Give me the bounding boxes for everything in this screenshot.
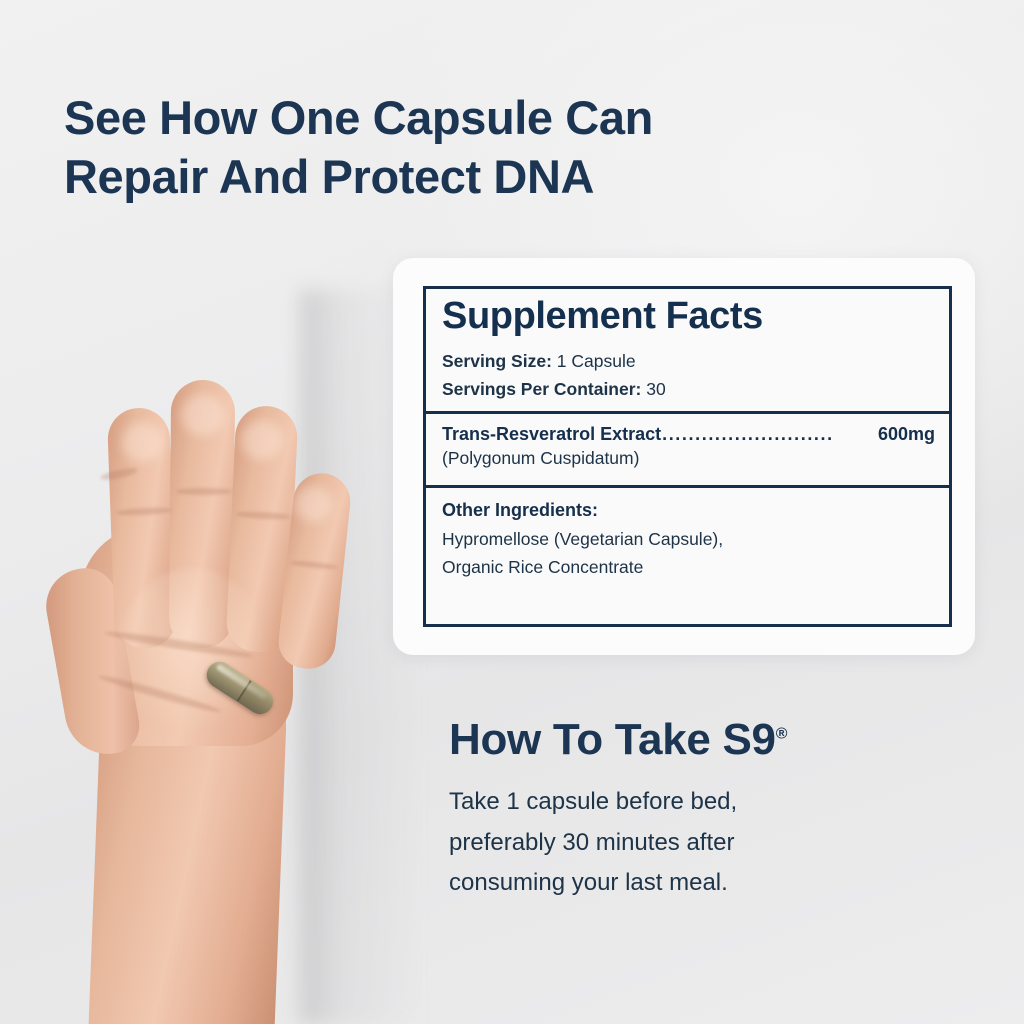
middle-tip-highlight [181, 394, 225, 436]
other-ingredient-item: Organic Rice Concentrate [442, 553, 935, 581]
active-ingredient-row: Trans-Resveratrol Extract ..............… [442, 424, 935, 445]
index-tip-highlight [122, 422, 164, 462]
servings-per-container-label: Servings Per Container: [442, 379, 641, 399]
other-ingredients-label: Other Ingredients: [442, 500, 935, 521]
how-to-take-line: consuming your last meal. [449, 863, 909, 903]
how-to-take-line: Take 1 capsule before bed, [449, 782, 909, 822]
serving-size-label: Serving Size: [442, 351, 552, 371]
how-to-take-title-text: How To Take S9 [449, 715, 776, 764]
product-marketing-image: See How One Capsule Can Repair And Prote… [0, 0, 1024, 1024]
other-ingredient-item: Hypromellose (Vegetarian Capsule), [442, 525, 935, 553]
dot-leader: .......................... [662, 424, 877, 445]
supplement-facts-title: Supplement Facts [442, 297, 935, 337]
active-ingredient-name: Trans-Resveratrol Extract [442, 424, 661, 445]
middle-crease [176, 488, 232, 495]
headline-line-1: See How One Capsule Can [64, 89, 764, 147]
how-to-take-line: preferably 30 minutes after [449, 823, 909, 863]
servings-per-container-row: Servings Per Container: 30 [442, 375, 935, 403]
registered-trademark-icon: ® [776, 725, 787, 742]
supplement-facts-card: Supplement Facts Serving Size: 1 Capsule… [393, 258, 975, 655]
supplement-facts-panel: Supplement Facts Serving Size: 1 Capsule… [423, 286, 952, 630]
facts-header-section: Supplement Facts Serving Size: 1 Capsule… [423, 286, 952, 414]
how-to-take-title: How To Take S9® [449, 716, 909, 764]
how-to-take-block: How To Take S9® Take 1 capsule before be… [449, 716, 909, 903]
serving-size-row: Serving Size: 1 Capsule [442, 347, 935, 375]
active-ingredient-amount: 600mg [878, 424, 935, 445]
pinky-tip-highlight [294, 486, 332, 522]
ring-tip-highlight [241, 420, 283, 460]
hand-photo [0, 170, 400, 1024]
other-ingredients-section: Other Ingredients: Hypromellose (Vegetar… [423, 485, 952, 627]
active-ingredient-source: (Polygonum Cuspidatum) [442, 448, 935, 469]
how-to-take-body: Take 1 capsule before bed, preferably 30… [449, 782, 909, 903]
active-ingredient-section: Trans-Resveratrol Extract ..............… [423, 411, 952, 488]
servings-per-container-value: 30 [646, 379, 665, 399]
serving-size-value: 1 Capsule [557, 351, 636, 371]
